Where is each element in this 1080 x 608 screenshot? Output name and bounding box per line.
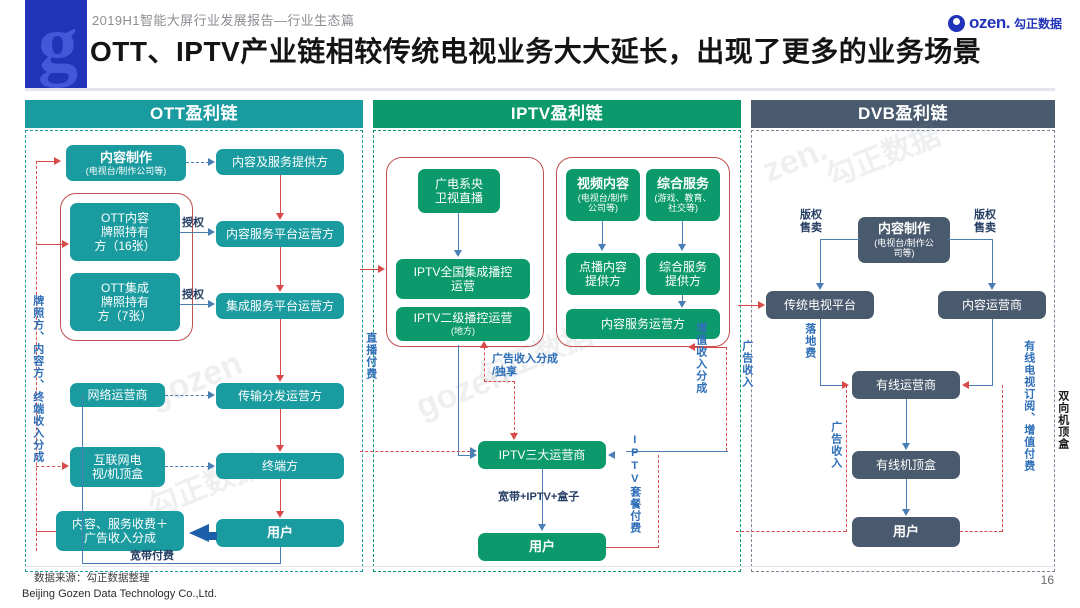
node-user[interactable]: 用户 bbox=[478, 533, 606, 561]
connector bbox=[484, 381, 515, 382]
arrow-icon bbox=[208, 300, 215, 308]
connector bbox=[820, 239, 860, 240]
page-header: g 2019H1智能大屏行业发展报告—行业生态篇 OTT、IPTV产业链相较传统… bbox=[0, 0, 1080, 92]
node-subtitle: (电视台/制作公司等) bbox=[874, 238, 934, 259]
node-title: 广电系央卫视直播 bbox=[435, 177, 483, 205]
label-ad-revenue-outer-vertical: 广告收入 bbox=[739, 340, 753, 388]
arrow-icon bbox=[758, 301, 765, 309]
node-title: 用户 bbox=[893, 524, 919, 539]
connector bbox=[36, 161, 56, 162]
arrow-icon bbox=[988, 283, 996, 290]
node-subtitle: (游戏、教育、社交等) bbox=[655, 193, 712, 214]
column-ott-header: OTT盈利链 bbox=[25, 100, 363, 128]
label-bundle: 宽带+IPTV+盒子 bbox=[498, 491, 579, 504]
node-cable-stb[interactable]: 有线机顶盒 bbox=[852, 451, 960, 479]
column-ott: OTT盈利链 gozen 勾正数据 内容制作 (电视台/制作公司等) OTT内容… bbox=[25, 100, 363, 572]
node-title: 互联网电视/机顶盒 bbox=[92, 453, 143, 481]
node-integration-platform-operator[interactable]: 集成服务平台运营方 bbox=[216, 293, 344, 319]
arrow-icon bbox=[276, 213, 284, 220]
connector bbox=[906, 479, 907, 509]
arrow-icon bbox=[538, 524, 546, 531]
column-iptv: IPTV盈利链 gozen 勾正数据 广电系央卫视直播 IPTV全国集成播控运营… bbox=[373, 100, 741, 572]
node-comprehensive-service[interactable]: 综合服务 (游戏、教育、社交等) bbox=[646, 169, 720, 221]
title-divider bbox=[25, 88, 1055, 91]
connector bbox=[820, 319, 821, 385]
node-user[interactable]: 用户 bbox=[216, 519, 344, 547]
connector bbox=[968, 385, 993, 386]
node-subtitle: (电视台/制作公司等) bbox=[86, 166, 167, 177]
label-ad-revenue-inner-vertical: 广告收入 bbox=[828, 421, 842, 469]
node-title: 用户 bbox=[529, 539, 555, 554]
connector bbox=[606, 547, 658, 548]
arrow-icon bbox=[378, 265, 385, 273]
node-title: IPTV全国集成播控运营 bbox=[414, 265, 513, 293]
label-ott-revenue-share-vertical: 牌照方、内容方、终端收入分成 bbox=[30, 295, 44, 535]
arrow-icon bbox=[276, 511, 284, 518]
node-subtitle: (地方) bbox=[451, 326, 475, 337]
column-iptv-header: IPTV盈利链 bbox=[373, 100, 741, 128]
brand-cn-name: 勾正数据 bbox=[1014, 15, 1062, 32]
arrow-icon bbox=[208, 158, 215, 166]
node-title: 综合服务提供方 bbox=[659, 260, 707, 288]
node-secondary-broadcast-control[interactable]: IPTV二级播控运营 (地方) bbox=[396, 307, 530, 341]
connector bbox=[360, 269, 380, 270]
connector bbox=[992, 239, 993, 283]
brand-mark-icon bbox=[948, 15, 965, 32]
arrow-icon bbox=[598, 244, 606, 251]
node-content-operator[interactable]: 内容运营商 bbox=[938, 291, 1046, 319]
connector bbox=[820, 385, 844, 386]
connector bbox=[820, 239, 821, 283]
node-title: 内容服务运营方 bbox=[601, 317, 685, 331]
label-authorization-content: 授权 bbox=[182, 217, 204, 230]
connector bbox=[180, 232, 209, 233]
connector bbox=[360, 451, 470, 452]
label-authorization-integration: 授权 bbox=[182, 289, 204, 302]
connector bbox=[658, 455, 659, 548]
node-title: 视频内容 bbox=[577, 176, 629, 191]
label-iptv-package-fee-vertical: IPTV套餐付费 bbox=[627, 434, 641, 534]
arrow-icon bbox=[480, 341, 488, 348]
column-dvb: DVB盈利链 zen. 勾正数据 内容制作 (电视台/制作公司等) 传统电视平台… bbox=[751, 100, 1055, 572]
node-ott-integration-license[interactable]: OTT集成牌照持有方（7张） bbox=[70, 273, 180, 331]
arrow-icon bbox=[208, 462, 215, 470]
arrow-icon bbox=[902, 509, 910, 516]
node-title: OTT集成牌照持有方（7张） bbox=[98, 281, 153, 323]
arrow-icon bbox=[510, 433, 518, 440]
node-title: 内容运营商 bbox=[962, 298, 1022, 312]
arrow-icon bbox=[276, 285, 284, 292]
arrow-icon bbox=[208, 391, 215, 399]
node-transmission-operator[interactable]: 传输分发运营方 bbox=[216, 383, 344, 409]
connector bbox=[458, 213, 459, 251]
arrow-icon bbox=[62, 462, 69, 470]
node-title: 有线机顶盒 bbox=[876, 458, 936, 472]
node-content-platform-operator[interactable]: 内容服务平台运营方 bbox=[216, 221, 344, 247]
connector bbox=[186, 162, 209, 163]
node-national-broadcast-control[interactable]: IPTV全国集成播控运营 bbox=[396, 259, 530, 299]
connector bbox=[165, 466, 209, 467]
connector bbox=[82, 395, 83, 564]
label-copyright-sale-left: 版权售卖 bbox=[800, 209, 822, 234]
connector bbox=[992, 319, 993, 385]
brand-logo: ozen. 勾正数据 bbox=[948, 12, 1062, 34]
data-source: 数据来源：勾正数据整理 bbox=[34, 570, 150, 585]
connector bbox=[280, 409, 281, 445]
arrow-icon bbox=[62, 240, 69, 248]
arrow-icon bbox=[208, 228, 215, 236]
node-subtitle: (电视台/制作公司等) bbox=[578, 193, 629, 214]
node-title: 内容制作 bbox=[100, 150, 152, 165]
label-two-way-stb-vertical: 双向机顶盒 bbox=[1055, 390, 1069, 450]
arrow-icon bbox=[454, 250, 462, 257]
connector bbox=[484, 347, 485, 382]
connector bbox=[280, 319, 281, 375]
arrow-icon bbox=[470, 447, 477, 455]
footer-divider bbox=[25, 566, 1055, 567]
node-title: 点播内容提供方 bbox=[579, 260, 627, 288]
node-content-and-service-provider[interactable]: 内容及服务提供方 bbox=[216, 149, 344, 175]
node-iptv-three-operators[interactable]: IPTV三大运营商 bbox=[478, 441, 606, 469]
label-landing-fee-vertical: 落地费 bbox=[802, 323, 816, 359]
company-name: Beijing Gozen Data Technology Co.,Ltd. bbox=[22, 588, 217, 600]
node-comprehensive-service-provider[interactable]: 综合服务提供方 bbox=[646, 253, 720, 295]
connector bbox=[280, 479, 281, 511]
node-content-production[interactable]: 内容制作 (电视台/制作公司等) bbox=[66, 145, 186, 181]
node-network-operator[interactable]: 网络运营商 bbox=[70, 383, 165, 407]
node-title: IPTV二级播控运营 bbox=[414, 311, 513, 325]
column-iptv-body: gozen 勾正数据 广电系央卫视直播 IPTV全国集成播控运营 IPTV二级播… bbox=[373, 130, 741, 572]
connector bbox=[626, 451, 728, 452]
node-title: 内容服务平台运营方 bbox=[226, 227, 334, 241]
connector bbox=[165, 395, 209, 396]
page-number: 16 bbox=[1041, 573, 1054, 587]
connector bbox=[209, 532, 217, 540]
node-title: 传输分发运营方 bbox=[238, 389, 322, 403]
node-title: 集成服务平台运营方 bbox=[226, 299, 334, 313]
node-title: 内容制作 bbox=[878, 221, 930, 236]
arrow-icon bbox=[276, 375, 284, 382]
arrow-icon bbox=[816, 283, 824, 290]
revenue-flow-arrow-icon bbox=[189, 524, 209, 542]
column-dvb-body: zen. 勾正数据 内容制作 (电视台/制作公司等) 传统电视平台 内容运营商 … bbox=[751, 130, 1055, 572]
node-content-production[interactable]: 内容制作 (电视台/制作公司等) bbox=[858, 217, 950, 263]
arrow-icon bbox=[608, 451, 615, 459]
node-user[interactable]: 用户 bbox=[852, 517, 960, 547]
connector bbox=[82, 563, 281, 564]
arrow-icon bbox=[678, 244, 686, 251]
label-copyright-sale-right: 版权售卖 bbox=[974, 209, 996, 234]
label-value-added-share-vertical: 增值收入分成 bbox=[693, 322, 707, 394]
arrow-icon bbox=[678, 301, 686, 308]
node-content-service-fee[interactable]: 内容、服务收费＋广告收入分成 bbox=[56, 511, 184, 551]
connector bbox=[682, 221, 683, 244]
connector bbox=[280, 175, 281, 213]
connector bbox=[458, 345, 459, 455]
node-title: IPTV三大运营商 bbox=[499, 448, 586, 462]
node-title: 网络运营商 bbox=[87, 388, 147, 402]
label-cable-subscription-vertical: 有线电视订阅、增值付费 bbox=[1021, 340, 1035, 472]
node-title: 用户 bbox=[267, 525, 293, 540]
logo-letter: g bbox=[29, 2, 87, 86]
node-ott-content-license[interactable]: OTT内容牌照持有方（16张） bbox=[70, 203, 180, 261]
node-title: 终端方 bbox=[262, 459, 298, 473]
logo-badge: g bbox=[25, 0, 87, 88]
arrow-icon bbox=[54, 157, 61, 165]
node-smart-tv-stb[interactable]: 互联网电视/机顶盒 bbox=[70, 447, 165, 487]
arrow-icon bbox=[902, 443, 910, 450]
connector bbox=[846, 385, 847, 532]
connector bbox=[280, 247, 281, 285]
label-live-fee-vertical: 直播付费 bbox=[363, 332, 377, 380]
connector bbox=[514, 381, 515, 435]
node-title: 综合服务 bbox=[657, 176, 709, 191]
node-video-content[interactable]: 视频内容 (电视台/制作公司等) bbox=[566, 169, 640, 221]
column-dvb-header: DVB盈利链 bbox=[751, 100, 1055, 128]
node-title: 有线运营商 bbox=[876, 378, 936, 392]
node-vod-content-provider[interactable]: 点播内容提供方 bbox=[566, 253, 640, 295]
watermark: zen. bbox=[757, 130, 833, 191]
connector bbox=[906, 399, 907, 443]
connector bbox=[960, 531, 1002, 532]
connector bbox=[948, 239, 992, 240]
node-title: 传统电视平台 bbox=[784, 298, 856, 312]
node-cable-operator[interactable]: 有线运营商 bbox=[852, 371, 960, 399]
arrow-icon bbox=[276, 445, 284, 452]
connector bbox=[180, 304, 209, 305]
node-title: OTT内容牌照持有方（16张） bbox=[94, 211, 155, 253]
label-broadband-fee: 宽带付费 bbox=[130, 550, 174, 563]
node-traditional-tv-platform[interactable]: 传统电视平台 bbox=[766, 291, 874, 319]
label-ad-revenue-share: 广告收入分成/独享 bbox=[492, 353, 558, 378]
connector bbox=[738, 305, 760, 306]
report-kicker: 2019H1智能大屏行业发展报告—行业生态篇 bbox=[92, 10, 354, 29]
connector bbox=[602, 221, 603, 244]
connector bbox=[736, 531, 846, 532]
connector bbox=[1002, 385, 1003, 532]
node-title: 内容及服务提供方 bbox=[232, 155, 328, 169]
node-title: 内容、服务收费＋广告收入分成 bbox=[72, 517, 168, 545]
connector bbox=[280, 547, 281, 564]
page-title: OTT、IPTV产业链相较传统电视业务大大延长，出现了更多的业务场景 bbox=[90, 30, 981, 70]
arrow-icon bbox=[962, 381, 969, 389]
node-satellite-live[interactable]: 广电系央卫视直播 bbox=[418, 169, 500, 213]
connector bbox=[726, 347, 727, 451]
node-terminal-party[interactable]: 终端方 bbox=[216, 453, 344, 479]
column-ott-body: gozen 勾正数据 内容制作 (电视台/制作公司等) OTT内容牌照持有方（1… bbox=[25, 130, 363, 572]
brand-wordmark: ozen. bbox=[969, 13, 1010, 33]
